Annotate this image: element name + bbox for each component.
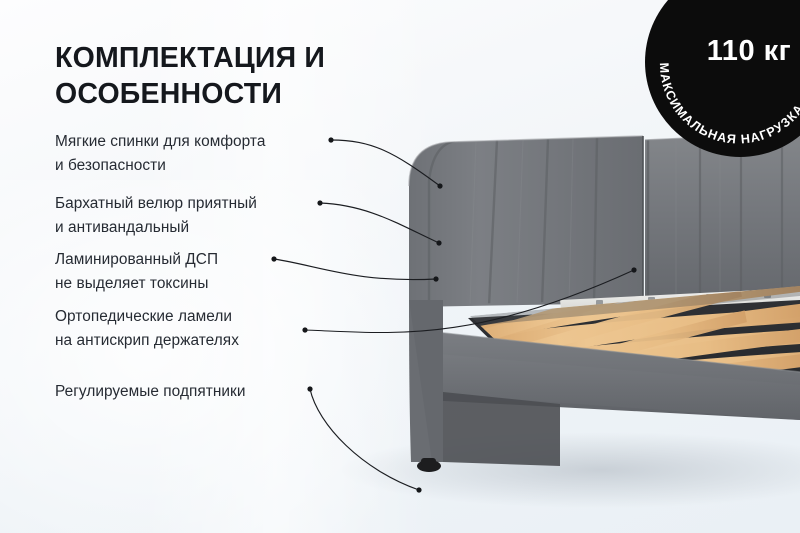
badge-value: 110 кг [645, 35, 800, 68]
feature-label-laminated-board: Ламинированный ДСП не выделяет токсины [55, 248, 218, 296]
leader-line-2 [274, 259, 436, 280]
leader-dots [271, 137, 636, 492]
leader-line-1 [320, 203, 439, 243]
feature-label-adjustable-feet: Регулируемые подпятники [55, 380, 245, 404]
feature-label-orthopedic-slats: Ортопедические ламели на антискрип держа… [55, 305, 239, 353]
infographic-canvas: КОМПЛЕКТАЦИЯ И ОСОБЕННОСТИ Мягкие спинки… [0, 0, 800, 533]
leader-line-0 [331, 140, 440, 186]
leader-line-4 [310, 389, 419, 490]
page-title: КОМПЛЕКТАЦИЯ И ОСОБЕННОСТИ [55, 40, 395, 112]
feature-label-velour: Бархатный велюр приятный и антивандальны… [55, 192, 257, 240]
leader-line-3 [305, 270, 634, 333]
svg-text:МАКСИМАЛЬНАЯ НАГРУЗКА: МАКСИМАЛЬНАЯ НАГРУЗКА [657, 62, 800, 146]
max-load-badge: МАКСИМАЛЬНАЯ НАГРУЗКА 110 кг [645, 0, 800, 157]
badge-arc-label: МАКСИМАЛЬНАЯ НАГРУЗКА [657, 62, 800, 146]
badge-arc-text: МАКСИМАЛЬНАЯ НАГРУЗКА [645, 0, 800, 157]
feature-label-soft-backrests: Мягкие спинки для комфорта и безопасност… [55, 130, 265, 178]
